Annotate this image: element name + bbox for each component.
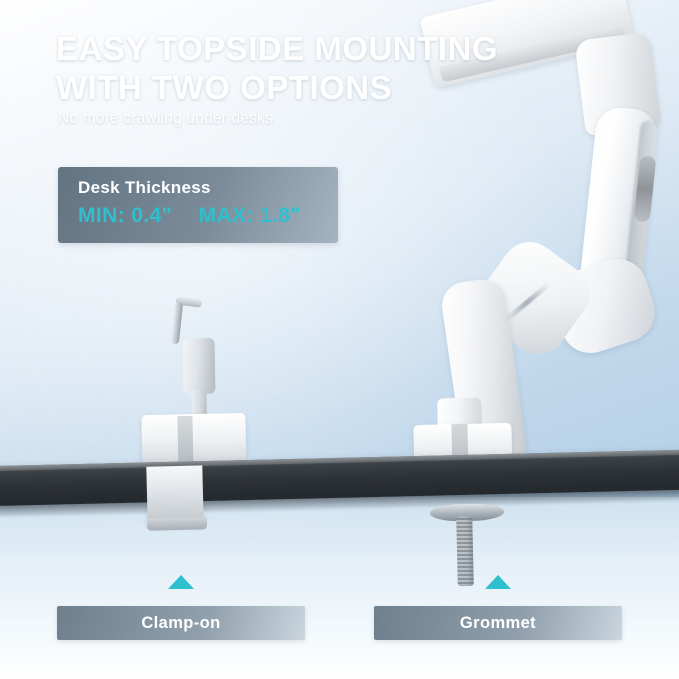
- desk-thickness-min: MIN: 0.4": [78, 204, 172, 227]
- clamp-knob: [183, 338, 216, 395]
- page-title: EASY TOPSIDE MOUNTING WITH TWO OPTIONS: [56, 30, 576, 108]
- headline-line-2: WITH TWO OPTIONS: [56, 69, 576, 108]
- clamp-jaw-lip: [147, 517, 207, 530]
- desk-thickness-max: MAX: 1.8": [199, 204, 301, 227]
- desk-thickness-values: MIN: 0.4" MAX: 1.8": [78, 204, 301, 228]
- headline-line-1: EASY TOPSIDE MOUNTING: [56, 30, 498, 67]
- grommet-arrow-icon: [485, 575, 511, 589]
- desk-thickness-card: Desk Thickness MIN: 0.4" MAX: 1.8": [58, 167, 338, 243]
- grommet-label: Grommet: [374, 606, 622, 640]
- product-feature-image: EASY TOPSIDE MOUNTING WITH TWO OPTIONS N…: [0, 0, 679, 679]
- grommet-threaded-bolt: [456, 516, 474, 586]
- clamp-arrow-icon: [168, 575, 194, 589]
- desk-thickness-title: Desk Thickness: [78, 178, 211, 198]
- clamp-jaw: [146, 465, 203, 524]
- clamp-on-label: Clamp-on: [57, 606, 305, 640]
- page-subtitle: No more crawling under desks: [58, 110, 273, 128]
